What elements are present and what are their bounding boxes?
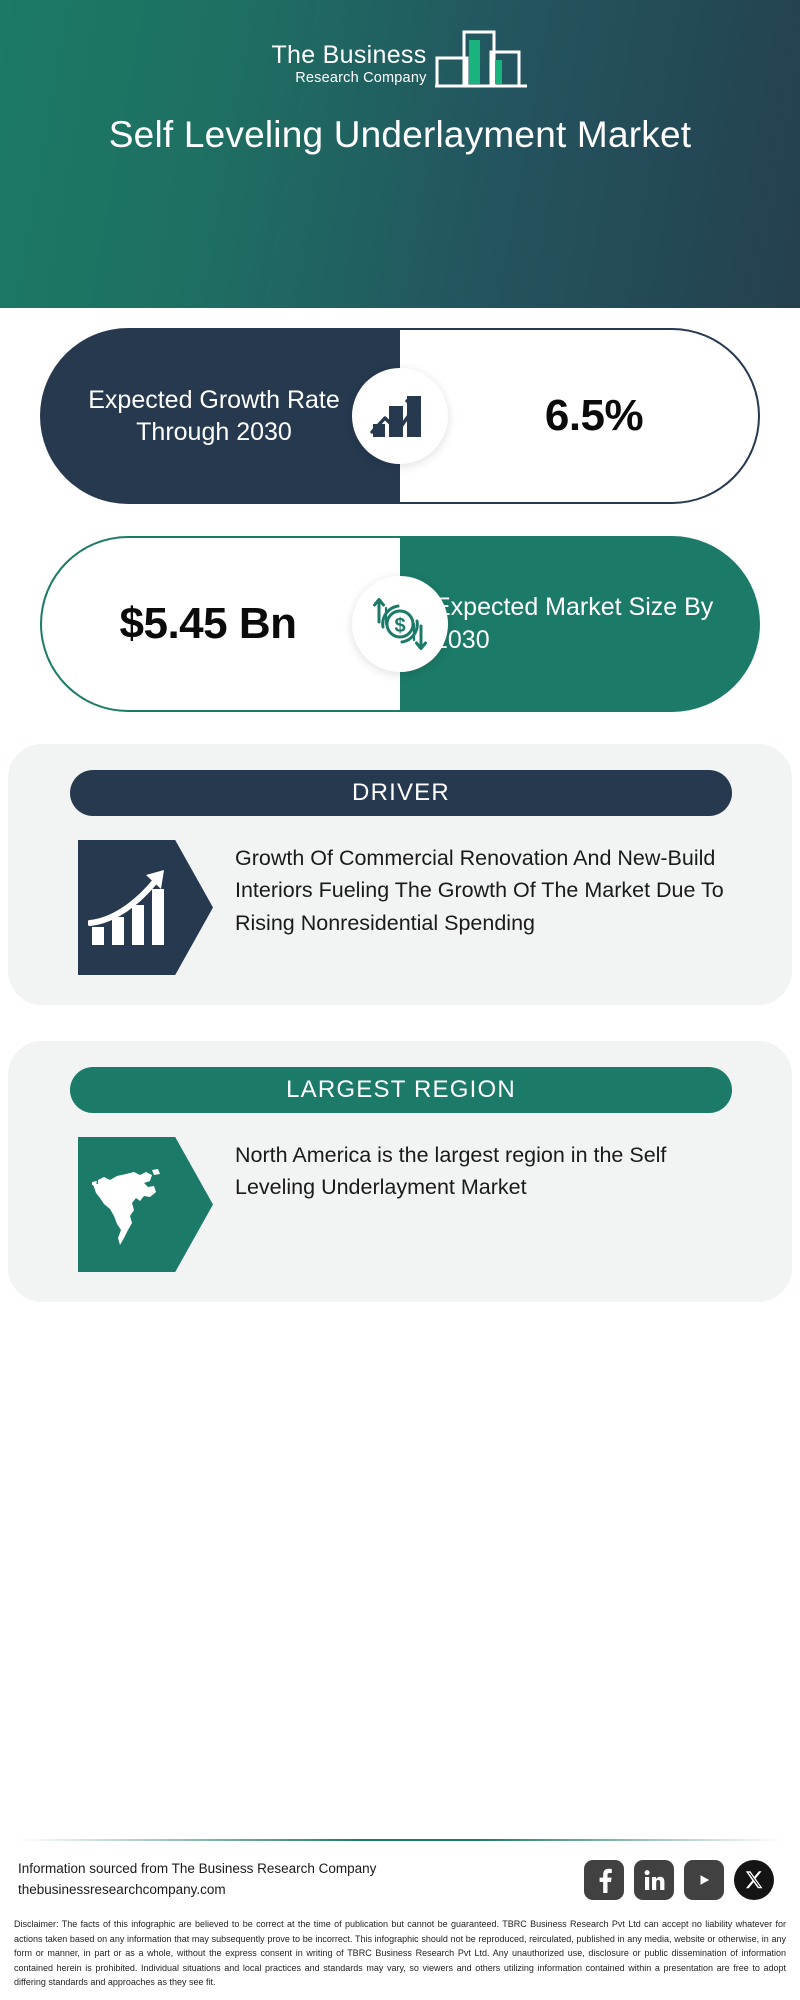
svg-text:$: $ <box>394 615 405 637</box>
driver-text: Growth Of Commercial Renovation And New-… <box>235 840 748 939</box>
driver-badge: DRIVER <box>70 770 732 816</box>
largest-region-panel: LARGEST REGION North America is the larg… <box>8 1041 792 1302</box>
dollar-circulation-icon: $ <box>352 576 448 672</box>
market-size-label: Expected Market Size By 2030 <box>400 591 760 657</box>
driver-panel: DRIVER Growth Of Commercial Renovation A… <box>8 744 792 1005</box>
social-links <box>584 1860 774 1900</box>
disclaimer-text: Disclaimer: The facts of this infographi… <box>0 1913 800 2000</box>
page-title: Self Leveling Underlayment Market <box>0 112 800 158</box>
youtube-icon[interactable] <box>684 1860 724 1900</box>
largest-region-badge: LARGEST REGION <box>70 1067 732 1113</box>
largest-region-panel-body: North America is the largest region in t… <box>8 1137 792 1272</box>
logo-line-2: Research Company <box>271 69 426 87</box>
market-size-label-half: Expected Market Size By 2030 <box>400 536 760 712</box>
footer-source-line-2[interactable]: thebusinessresearchcompany.com <box>18 1880 376 1901</box>
north-america-map-icon <box>78 1137 213 1272</box>
growth-rate-card: Expected Growth Rate Through 2030 6.5% <box>40 328 760 504</box>
driver-panel-body: Growth Of Commercial Renovation And New-… <box>8 840 792 975</box>
footer-row: Information sourced from The Business Re… <box>0 1841 800 1913</box>
footer: Information sourced from The Business Re… <box>0 1839 800 2000</box>
market-size-value: $5.45 Bn <box>120 598 323 650</box>
growth-rate-stat-row: Expected Growth Rate Through 2030 6.5% <box>0 328 800 504</box>
infographic-page: The Business Research Company Self Level… <box>0 0 800 2000</box>
growth-rate-value-half: 6.5% <box>400 328 760 504</box>
logo-bar-chart-icon <box>433 18 529 95</box>
growth-rate-label: Expected Growth Rate Through 2030 <box>40 384 400 449</box>
market-size-stat-row: $5.45 Bn Expected Market Size By 2030 $ <box>0 536 800 712</box>
market-size-card: $5.45 Bn Expected Market Size By 2030 $ <box>40 536 760 712</box>
header-banner: The Business Research Company Self Level… <box>0 0 800 308</box>
growth-rate-label-half: Expected Growth Rate Through 2030 <box>40 328 400 504</box>
footer-source-line-1: Information sourced from The Business Re… <box>18 1859 376 1880</box>
growth-bar-chart-arrow-icon <box>78 840 213 975</box>
company-logo: The Business Research Company <box>0 0 800 99</box>
facebook-icon[interactable] <box>584 1860 624 1900</box>
logo-line-1: The Business <box>271 43 426 69</box>
bar-chart-trend-up-icon <box>352 368 448 464</box>
footer-source: Information sourced from The Business Re… <box>18 1859 376 1901</box>
market-size-value-half: $5.45 Bn <box>40 536 400 712</box>
x-twitter-icon[interactable] <box>734 1860 774 1900</box>
largest-region-text: North America is the largest region in t… <box>235 1137 748 1204</box>
linkedin-icon[interactable] <box>634 1860 674 1900</box>
growth-rate-value: 6.5% <box>515 391 643 441</box>
logo-wordmark: The Business Research Company <box>271 43 426 99</box>
